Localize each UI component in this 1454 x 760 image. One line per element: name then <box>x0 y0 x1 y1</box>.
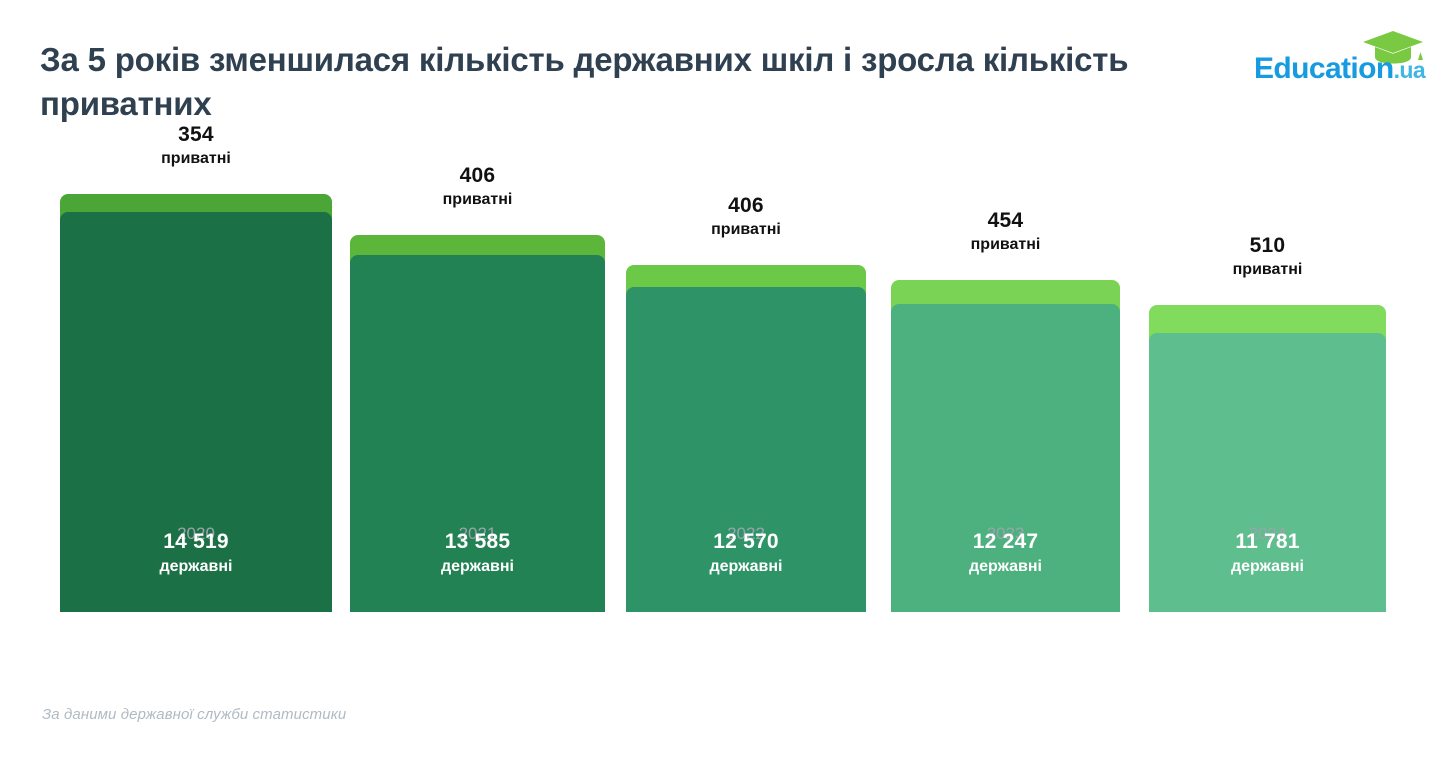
logo-word-tld: .ua <box>1394 57 1425 83</box>
private-caption: приватні <box>350 189 605 211</box>
stacked-bar-chart: 354 приватні 14 519 державні 2020 406 пр… <box>0 150 1454 710</box>
bar-stack: 11 781 державні <box>1149 305 1386 612</box>
state-caption: державні <box>891 555 1120 578</box>
state-caption: державні <box>626 555 866 578</box>
private-value: 406 <box>350 163 605 189</box>
state-label-2023: 12 247 державні <box>891 528 1120 578</box>
state-value: 12 570 <box>626 528 866 555</box>
state-value: 14 519 <box>60 528 332 555</box>
private-value: 454 <box>891 208 1120 234</box>
education-ua-logo[interactable]: Education.ua <box>1246 30 1436 90</box>
bar-stack: 12 570 державні <box>626 265 866 612</box>
state-value: 12 247 <box>891 528 1120 555</box>
bar-group-2022[interactable]: 406 приватні 12 570 державні 2022 <box>626 265 866 612</box>
private-caption: приватні <box>60 148 332 170</box>
state-label-2021: 13 585 державні <box>350 528 605 578</box>
logo-word-education: Education <box>1254 52 1394 85</box>
private-value: 406 <box>626 193 866 219</box>
bar-group-2021[interactable]: 406 приватні 13 585 державні 2021 <box>350 235 605 612</box>
state-caption: державні <box>350 555 605 578</box>
bar-stack: 12 247 державні <box>891 280 1120 612</box>
state-caption: державні <box>1149 555 1386 578</box>
private-value: 510 <box>1149 233 1386 259</box>
bar-stack: 13 585 державні <box>350 235 605 612</box>
private-caption: приватні <box>1149 259 1386 281</box>
private-value: 354 <box>60 122 332 148</box>
private-caption: приватні <box>891 234 1120 256</box>
private-label-2024: 510 приватні <box>1149 233 1386 282</box>
state-label-2020: 14 519 державні <box>60 528 332 578</box>
state-value: 11 781 <box>1149 528 1386 555</box>
state-label-2024: 11 781 державні <box>1149 528 1386 578</box>
bar-group-2024[interactable]: 510 приватні 11 781 державні 2024 <box>1149 305 1386 612</box>
source-note: За даними державної служби статистики <box>42 706 346 723</box>
private-label-2023: 454 приватні <box>891 208 1120 257</box>
state-label-2022: 12 570 державні <box>626 528 866 578</box>
private-caption: приватні <box>626 219 866 241</box>
private-label-2021: 406 приватні <box>350 163 605 212</box>
private-label-2020: 354 приватні <box>60 122 332 171</box>
page-title: За 5 років зменшилася кількість державни… <box>40 38 1220 125</box>
state-caption: державні <box>60 555 332 578</box>
bar-stack: 14 519 державні <box>60 194 332 612</box>
state-value: 13 585 <box>350 528 605 555</box>
logo-wordmark: Education.ua <box>1254 52 1425 86</box>
bar-group-2020[interactable]: 354 приватні 14 519 державні 2020 <box>60 194 332 612</box>
bar-group-2023[interactable]: 454 приватні 12 247 державні 2023 <box>891 280 1120 612</box>
private-label-2022: 406 приватні <box>626 193 866 242</box>
